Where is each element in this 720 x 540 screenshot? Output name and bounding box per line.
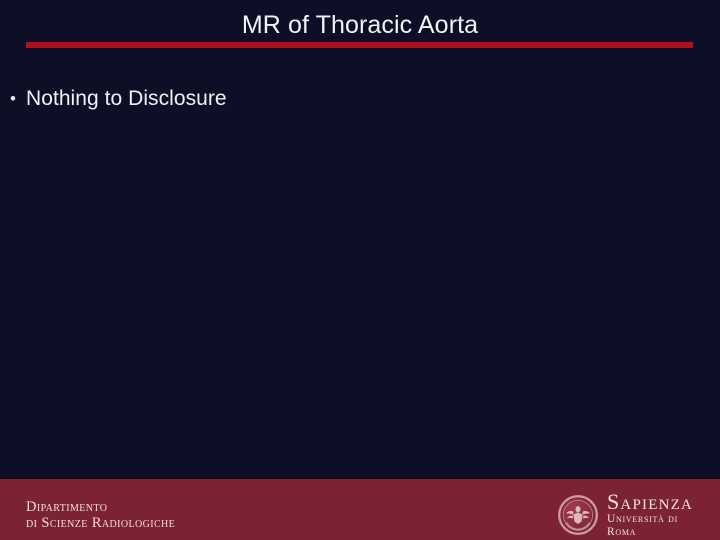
university-subtitle: Università di Roma — [607, 513, 710, 539]
bullet-point-icon: • — [0, 84, 26, 114]
slide-body-list: • Nothing to Disclosure — [0, 84, 660, 124]
list-item: • Nothing to Disclosure — [0, 84, 660, 114]
department-name: Dipartimento di Scienze Radiologiche — [26, 499, 175, 531]
presentation-slide: MR of Thoracic Aorta • Nothing to Disclo… — [0, 0, 720, 540]
university-name: Sapienza — [607, 491, 710, 512]
department-name-line-1: Dipartimento — [26, 499, 175, 515]
title-divider-rule — [26, 42, 693, 48]
department-name-line-2: di Scienze Radiologiche — [26, 515, 175, 531]
slide-title: MR of Thoracic Aorta — [0, 10, 720, 40]
university-wordmark: Sapienza Università di Roma — [607, 491, 710, 539]
list-item-label: Nothing to Disclosure — [26, 84, 227, 114]
university-logo-lockup: Sapienza Università di Roma — [558, 493, 710, 537]
sapienza-seal-icon — [558, 495, 598, 535]
